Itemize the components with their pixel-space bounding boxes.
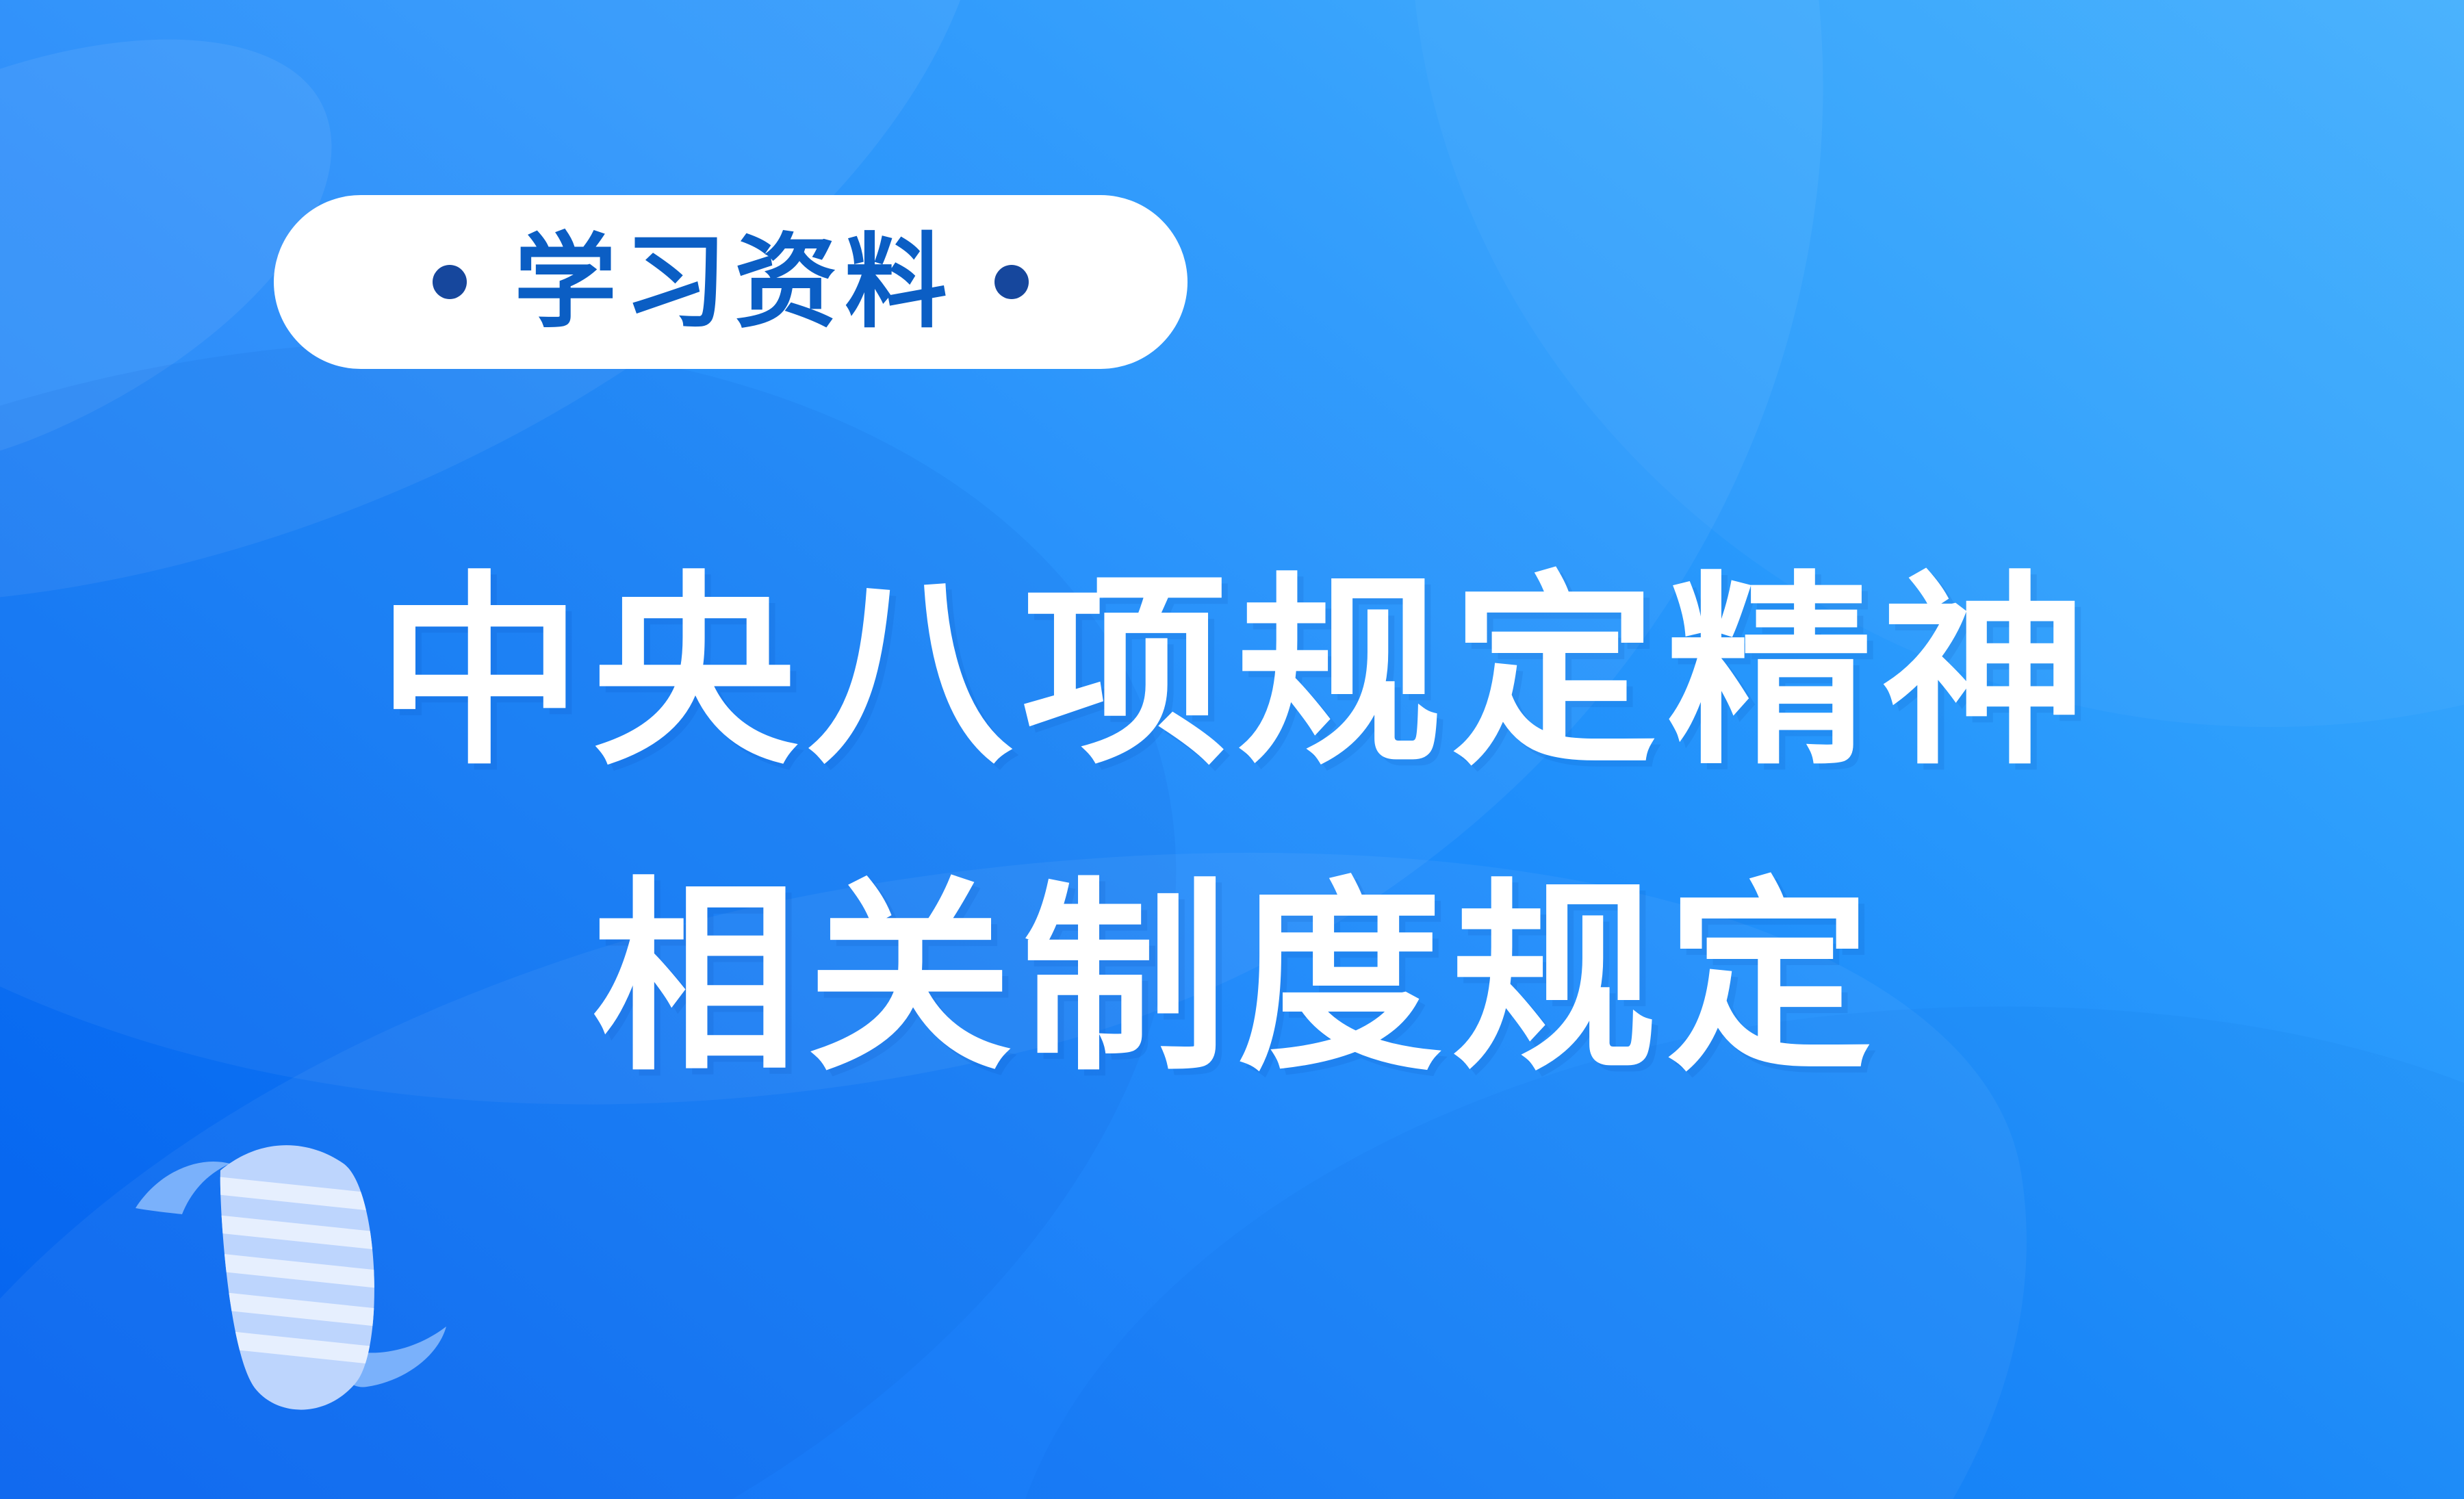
poster-title-line-1: 中央八项规定精神 (0, 520, 2464, 826)
poster-canvas: 学习资料 中央八项规定精神 相关制度规定 (0, 0, 2464, 1499)
badge-label: 学习资料 (506, 231, 955, 333)
study-material-badge: 学习资料 (274, 195, 1188, 369)
badge-right-dot-icon (994, 265, 1029, 299)
poster-title-block: 中央八项规定精神 相关制度规定 (0, 520, 2464, 1132)
poster-title-line-2: 相关制度规定 (0, 826, 2464, 1132)
document-scroll-icon (96, 1143, 506, 1431)
badge-left-dot-icon (433, 265, 467, 299)
